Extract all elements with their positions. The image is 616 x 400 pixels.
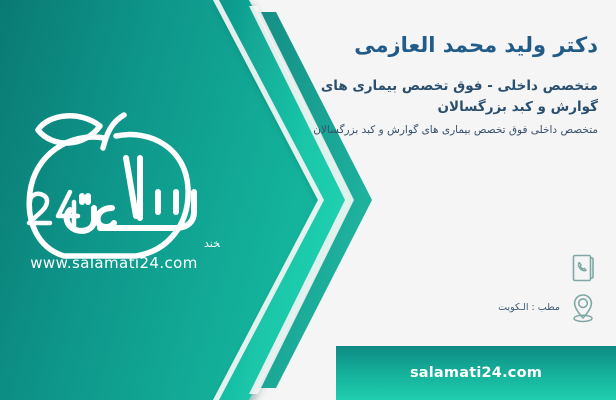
brand-logo-art: به راحتی یک لبخند www.salamati24.com — [8, 96, 220, 276]
doctor-info: دکتر ولید محمد العازمی متخصص داخلی - فوق… — [298, 32, 598, 138]
location-pin-icon — [568, 291, 598, 325]
specialty-secondary: متخصص داخلی فوق تخصص بیماری های گوارش و … — [298, 122, 598, 139]
logo-tagline: به راحتی یک لبخند — [204, 237, 220, 250]
brand-logo: به راحتی یک لبخند www.salamati24.com — [8, 96, 220, 276]
contact-row-phone[interactable] — [298, 248, 598, 288]
specialty-primary: متخصص داخلی - فوق تخصص بیماری های گوارش … — [298, 76, 598, 118]
contact-row-location[interactable]: مطب : الـکویت — [298, 288, 598, 328]
business-card: به راحتی یک لبخند www.salamati24.com دکت… — [0, 0, 616, 400]
footer-website-url: salamati24.com — [410, 365, 542, 381]
apple-outline — [29, 135, 188, 256]
phone-book-icon — [568, 251, 598, 285]
footer-bar[interactable]: salamati24.com — [336, 346, 616, 400]
doctor-name: دکتر ولید محمد العازمی — [298, 32, 598, 60]
logo-website: www.salamati24.com — [30, 254, 198, 272]
apple-stem — [103, 115, 124, 148]
contact-list: مطب : الـکویت — [298, 248, 598, 328]
brand-wordmark-fa — [67, 158, 194, 231]
location-value: مطب : الـکویت — [498, 301, 560, 314]
